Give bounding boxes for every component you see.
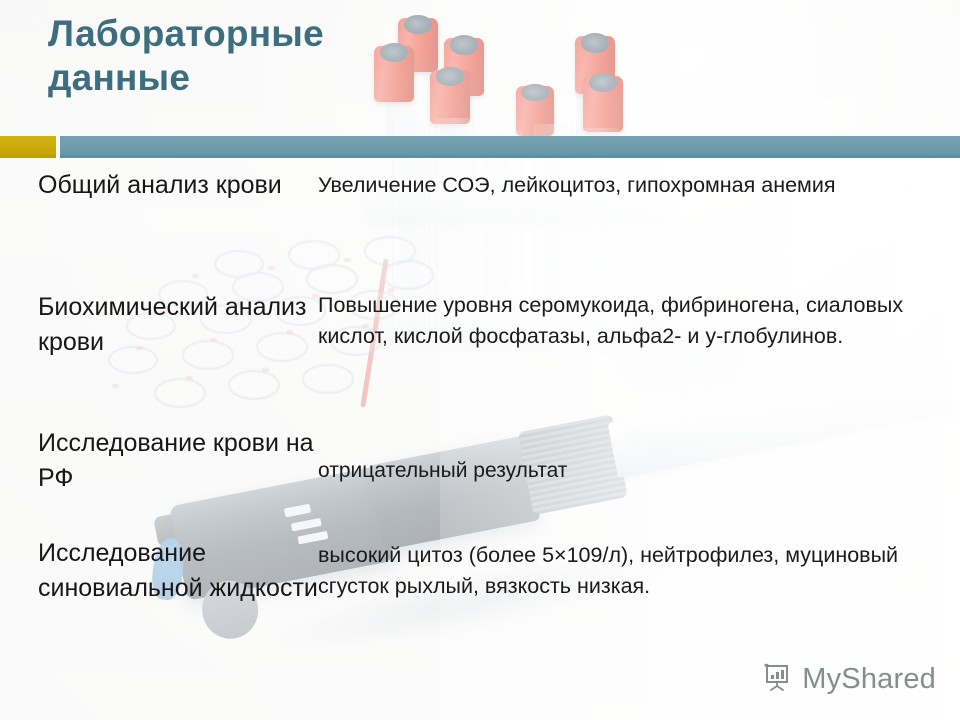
table-row: Исследование крови на РФ отрицательный р… bbox=[0, 426, 960, 495]
row-label: Исследование синовиальной жидкости bbox=[0, 536, 318, 605]
lab-results-table: Общий анализ крови Увеличение СОЭ, лейко… bbox=[0, 168, 960, 668]
table-row: Общий анализ крови Увеличение СОЭ, лейко… bbox=[0, 168, 960, 203]
presentation-board-icon bbox=[761, 661, 793, 698]
table-row: Исследование синовиальной жидкости высок… bbox=[0, 536, 960, 605]
row-value: Повышение уровня серомукоида, фибриноген… bbox=[318, 290, 918, 359]
row-label: Биохимический анализ крови bbox=[0, 290, 318, 359]
table-row: Биохимический анализ крови Повышение уро… bbox=[0, 290, 960, 359]
slide-title: Лабораторные данные bbox=[48, 12, 408, 99]
slide-canvas: Лабораторные данные Общий анализ крови У… bbox=[0, 0, 960, 720]
myshared-watermark: MyShared bbox=[761, 661, 936, 698]
row-label: Исследование крови на РФ bbox=[0, 426, 318, 495]
watermark-label: MyShared bbox=[802, 663, 936, 696]
row-value: отрицательный результат bbox=[318, 426, 918, 495]
row-value: Увеличение СОЭ, лейкоцитоз, гипохромная … bbox=[318, 168, 918, 203]
row-value: высокий цитоз (более 5×109/л), нейтрофил… bbox=[318, 536, 918, 605]
accent-bar-gold bbox=[0, 136, 56, 158]
row-label: Общий анализ крови bbox=[0, 168, 318, 203]
accent-bar-underline bbox=[60, 155, 960, 158]
